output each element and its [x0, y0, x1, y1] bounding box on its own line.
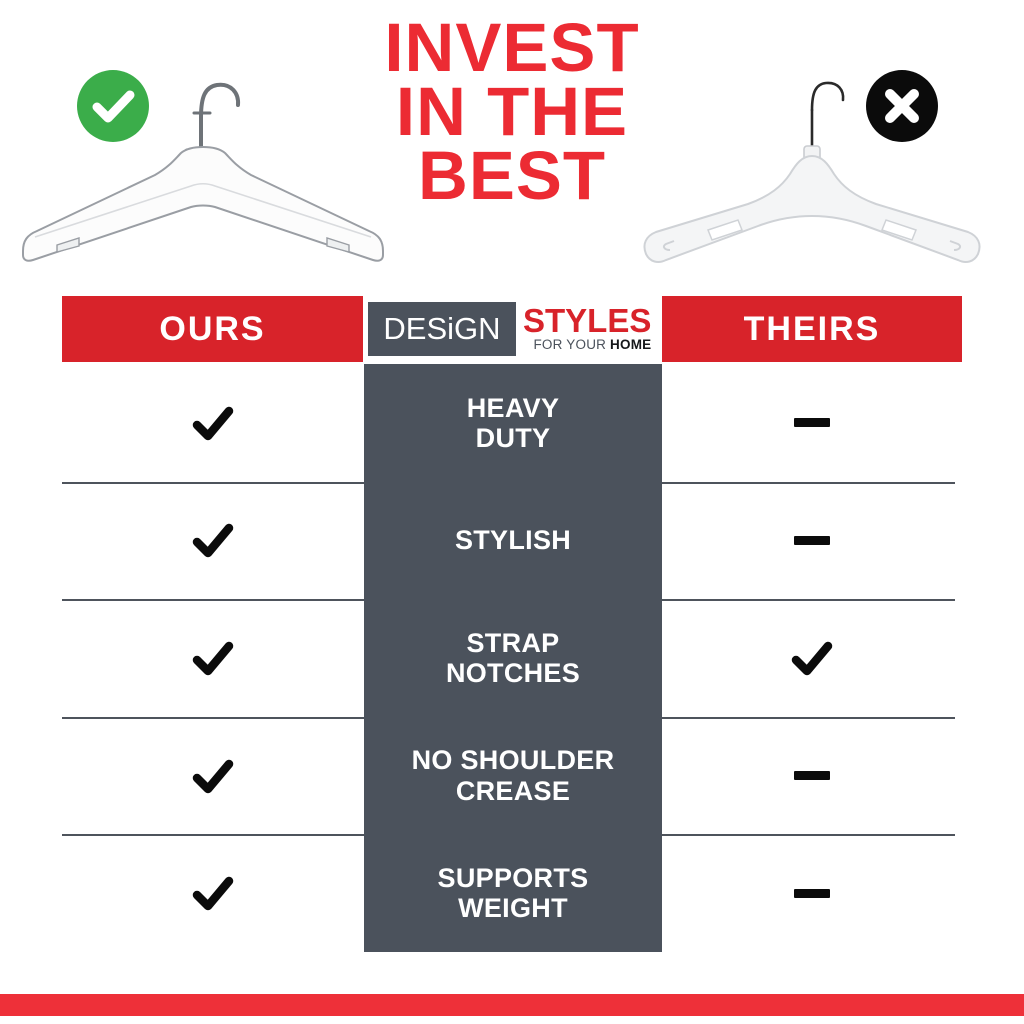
x-circle-badge-theirs: [866, 70, 938, 142]
dash-icon: [794, 889, 830, 898]
dash-icon: [794, 418, 830, 427]
x-circle-icon: [866, 70, 938, 142]
headline-line-3: BEST: [340, 144, 684, 208]
logo-tagline-emphasis: HOME: [610, 337, 651, 352]
logo-tagline-prefix: FOR YOUR: [533, 337, 610, 352]
cell-ours: [62, 364, 363, 482]
table-row: HEAVYDUTY: [0, 364, 1024, 482]
table-row: NO SHOULDERCREASE: [0, 717, 1024, 835]
logo-brand-word: STYLES: [523, 305, 651, 336]
headline-line-2: IN THE: [340, 80, 684, 144]
cell-theirs: [662, 834, 962, 952]
check-circle-icon: [77, 70, 149, 142]
comparison-table: OURS THEIRS DESiGN STYLES FOR YOUR HOME …: [0, 288, 1024, 960]
feature-label: NO SHOULDERCREASE: [404, 745, 623, 805]
table-row: SUPPORTSWEIGHT: [0, 834, 1024, 952]
column-header-ours-label: OURS: [159, 310, 265, 349]
feature-label: HEAVYDUTY: [459, 393, 568, 453]
cell-ours: [62, 482, 363, 600]
cell-theirs: [662, 717, 962, 835]
check-icon: [190, 870, 236, 916]
logo-wordmark: STYLES FOR YOUR HOME: [523, 305, 651, 353]
feature-label: STRAPNOTCHES: [438, 628, 588, 688]
cell-theirs: [662, 599, 962, 717]
cell-feature: STYLISH: [364, 482, 662, 600]
logo-mark: DESiGN: [368, 302, 516, 356]
cell-feature: NO SHOULDERCREASE: [364, 717, 662, 835]
cell-ours: [62, 834, 363, 952]
check-icon: [190, 753, 236, 799]
cell-ours: [62, 599, 363, 717]
feature-label: STYLISH: [447, 525, 579, 555]
dash-icon: [794, 771, 830, 780]
column-header-theirs: THEIRS: [662, 296, 962, 362]
brand-logo: DESiGN STYLES FOR YOUR HOME: [364, 294, 662, 364]
column-header-ours: OURS: [62, 296, 363, 362]
product-image-theirs: [630, 58, 1010, 268]
hero-section: INVEST IN THE BEST: [0, 0, 1024, 288]
cell-feature: SUPPORTSWEIGHT: [364, 834, 662, 952]
headline-line-1: INVEST: [340, 16, 684, 80]
cell-feature: STRAPNOTCHES: [364, 599, 662, 717]
check-icon: [190, 635, 236, 681]
footer-accent-bar: [0, 994, 1024, 1016]
feature-label: SUPPORTSWEIGHT: [430, 863, 597, 923]
check-icon: [190, 517, 236, 563]
check-circle-badge-ours: [77, 70, 149, 142]
check-icon: [789, 635, 835, 681]
table-row: STRAPNOTCHES: [0, 599, 1024, 717]
logo-mark-text: DESiGN: [383, 311, 500, 347]
check-icon: [190, 400, 236, 446]
cell-theirs: [662, 364, 962, 482]
table-row: STYLISH: [0, 482, 1024, 600]
cell-ours: [62, 717, 363, 835]
page-title: INVEST IN THE BEST: [340, 16, 684, 208]
cell-theirs: [662, 482, 962, 600]
dash-icon: [794, 536, 830, 545]
table-rows: HEAVYDUTYSTYLISHSTRAPNOTCHESNO SHOULDERC…: [0, 364, 1024, 952]
logo-tagline: FOR YOUR HOME: [523, 338, 651, 353]
cell-feature: HEAVYDUTY: [364, 364, 662, 482]
column-header-theirs-label: THEIRS: [744, 310, 881, 349]
bulky-plastic-hanger-icon: [630, 58, 1010, 268]
